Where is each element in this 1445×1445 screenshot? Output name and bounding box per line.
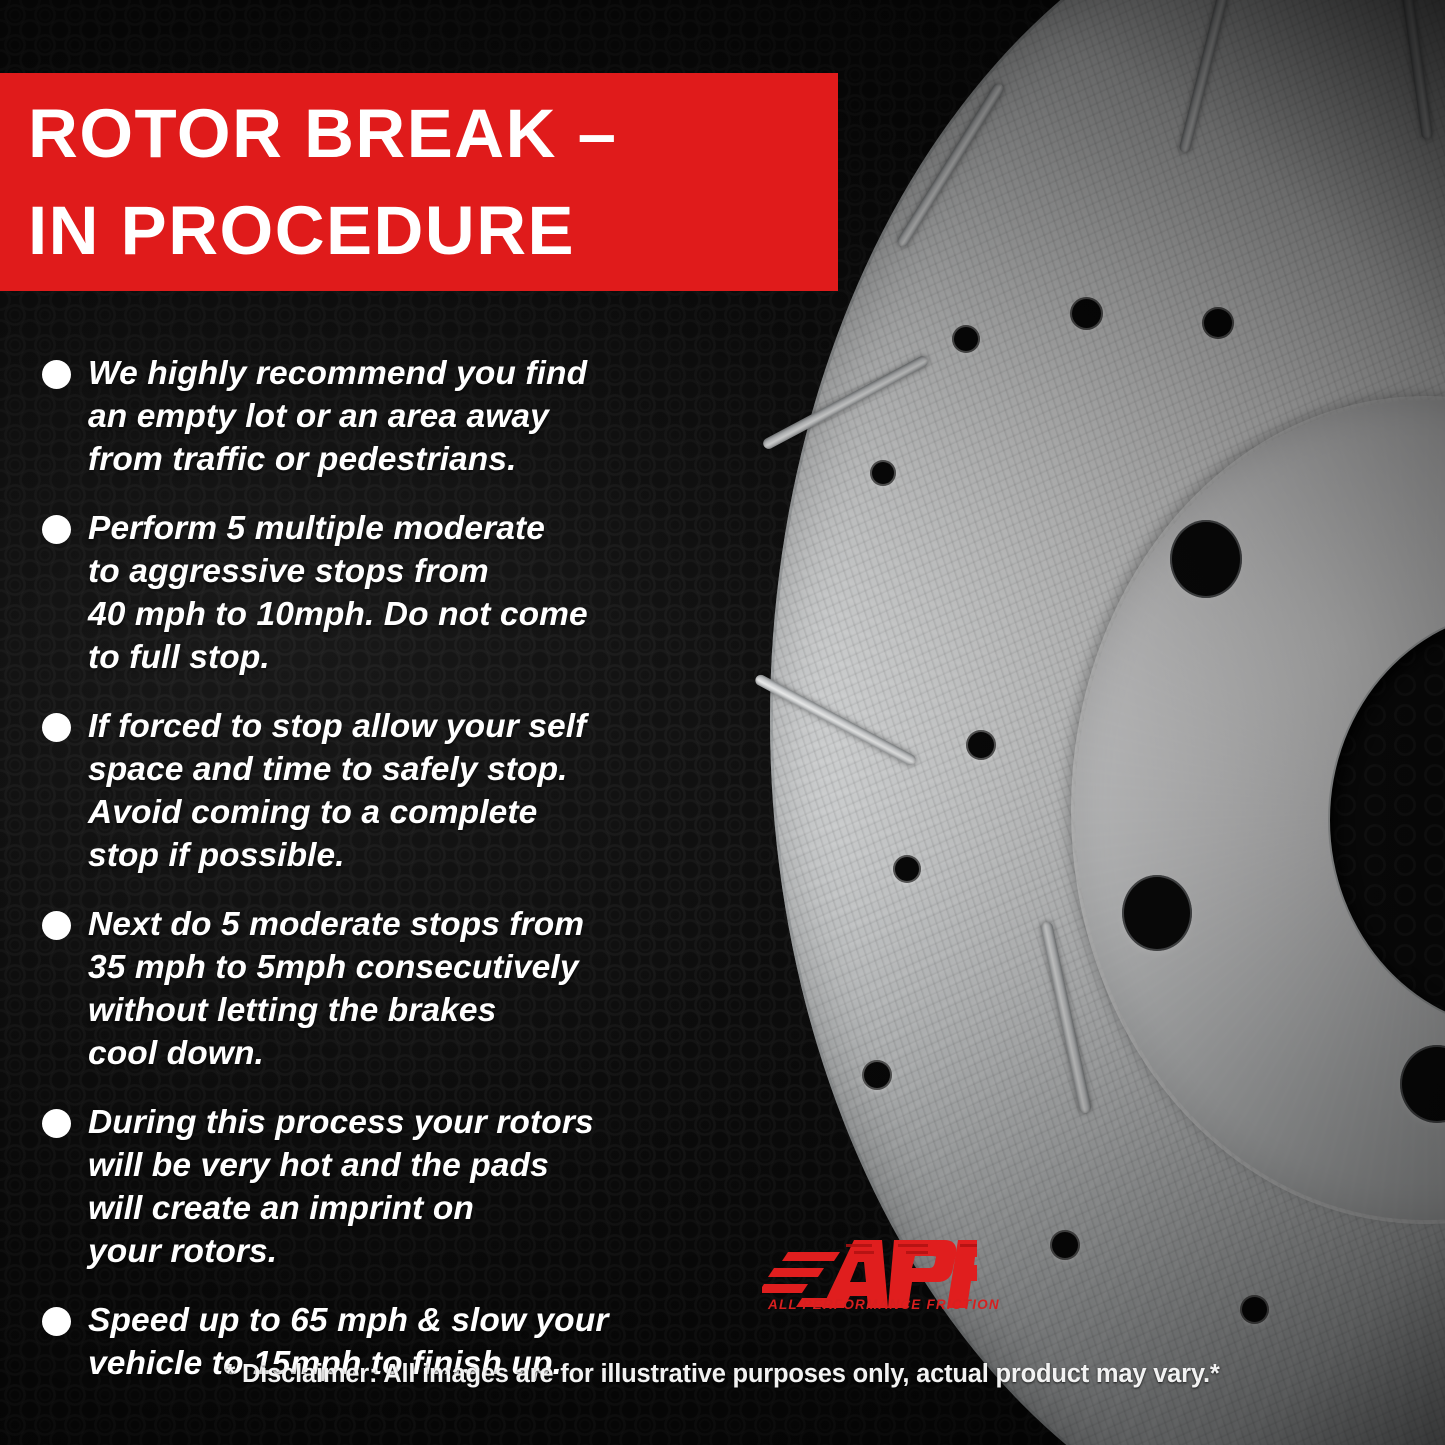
- list-item-text: Next do 5 moderate stops from 35 mph to …: [88, 903, 584, 1075]
- list-item: We highly recommend you find an empty lo…: [42, 352, 782, 481]
- list-item: Perform 5 multiple moderate to aggressiv…: [42, 507, 782, 679]
- list-item: If forced to stop allow your self space …: [42, 705, 782, 877]
- bullet-dot-icon: [42, 1307, 71, 1336]
- bullet-dot-icon: [42, 911, 71, 940]
- bullet-dot-icon: [42, 1109, 71, 1138]
- disclaimer-text: * Disclaimer: All images are for illustr…: [0, 1360, 1445, 1389]
- apf-logo-tagline: ALL PERFORMANCE FRICTION: [768, 1297, 968, 1312]
- title-banner: ROTOR BREAK – IN PROCEDURE: [0, 73, 838, 291]
- page-title-line-1: ROTOR BREAK –: [28, 85, 838, 182]
- bullet-dot-icon: [42, 360, 71, 389]
- list-item: During this process your rotors will be …: [42, 1101, 782, 1273]
- procedure-step-list: We highly recommend you find an empty lo…: [42, 352, 782, 1411]
- bullet-dot-icon: [42, 713, 71, 742]
- list-item-text: During this process your rotors will be …: [88, 1101, 594, 1273]
- list-item-text: Perform 5 multiple moderate to aggressiv…: [88, 507, 588, 679]
- list-item-text: We highly recommend you find an empty lo…: [88, 352, 587, 481]
- page-title-line-2: IN PROCEDURE: [28, 182, 838, 279]
- promo-graphic: ROTOR BREAK – IN PROCEDURE We highly rec…: [0, 0, 1445, 1445]
- bullet-dot-icon: [42, 515, 71, 544]
- list-item-text: If forced to stop allow your self space …: [88, 705, 586, 877]
- list-item: Next do 5 moderate stops from 35 mph to …: [42, 903, 782, 1075]
